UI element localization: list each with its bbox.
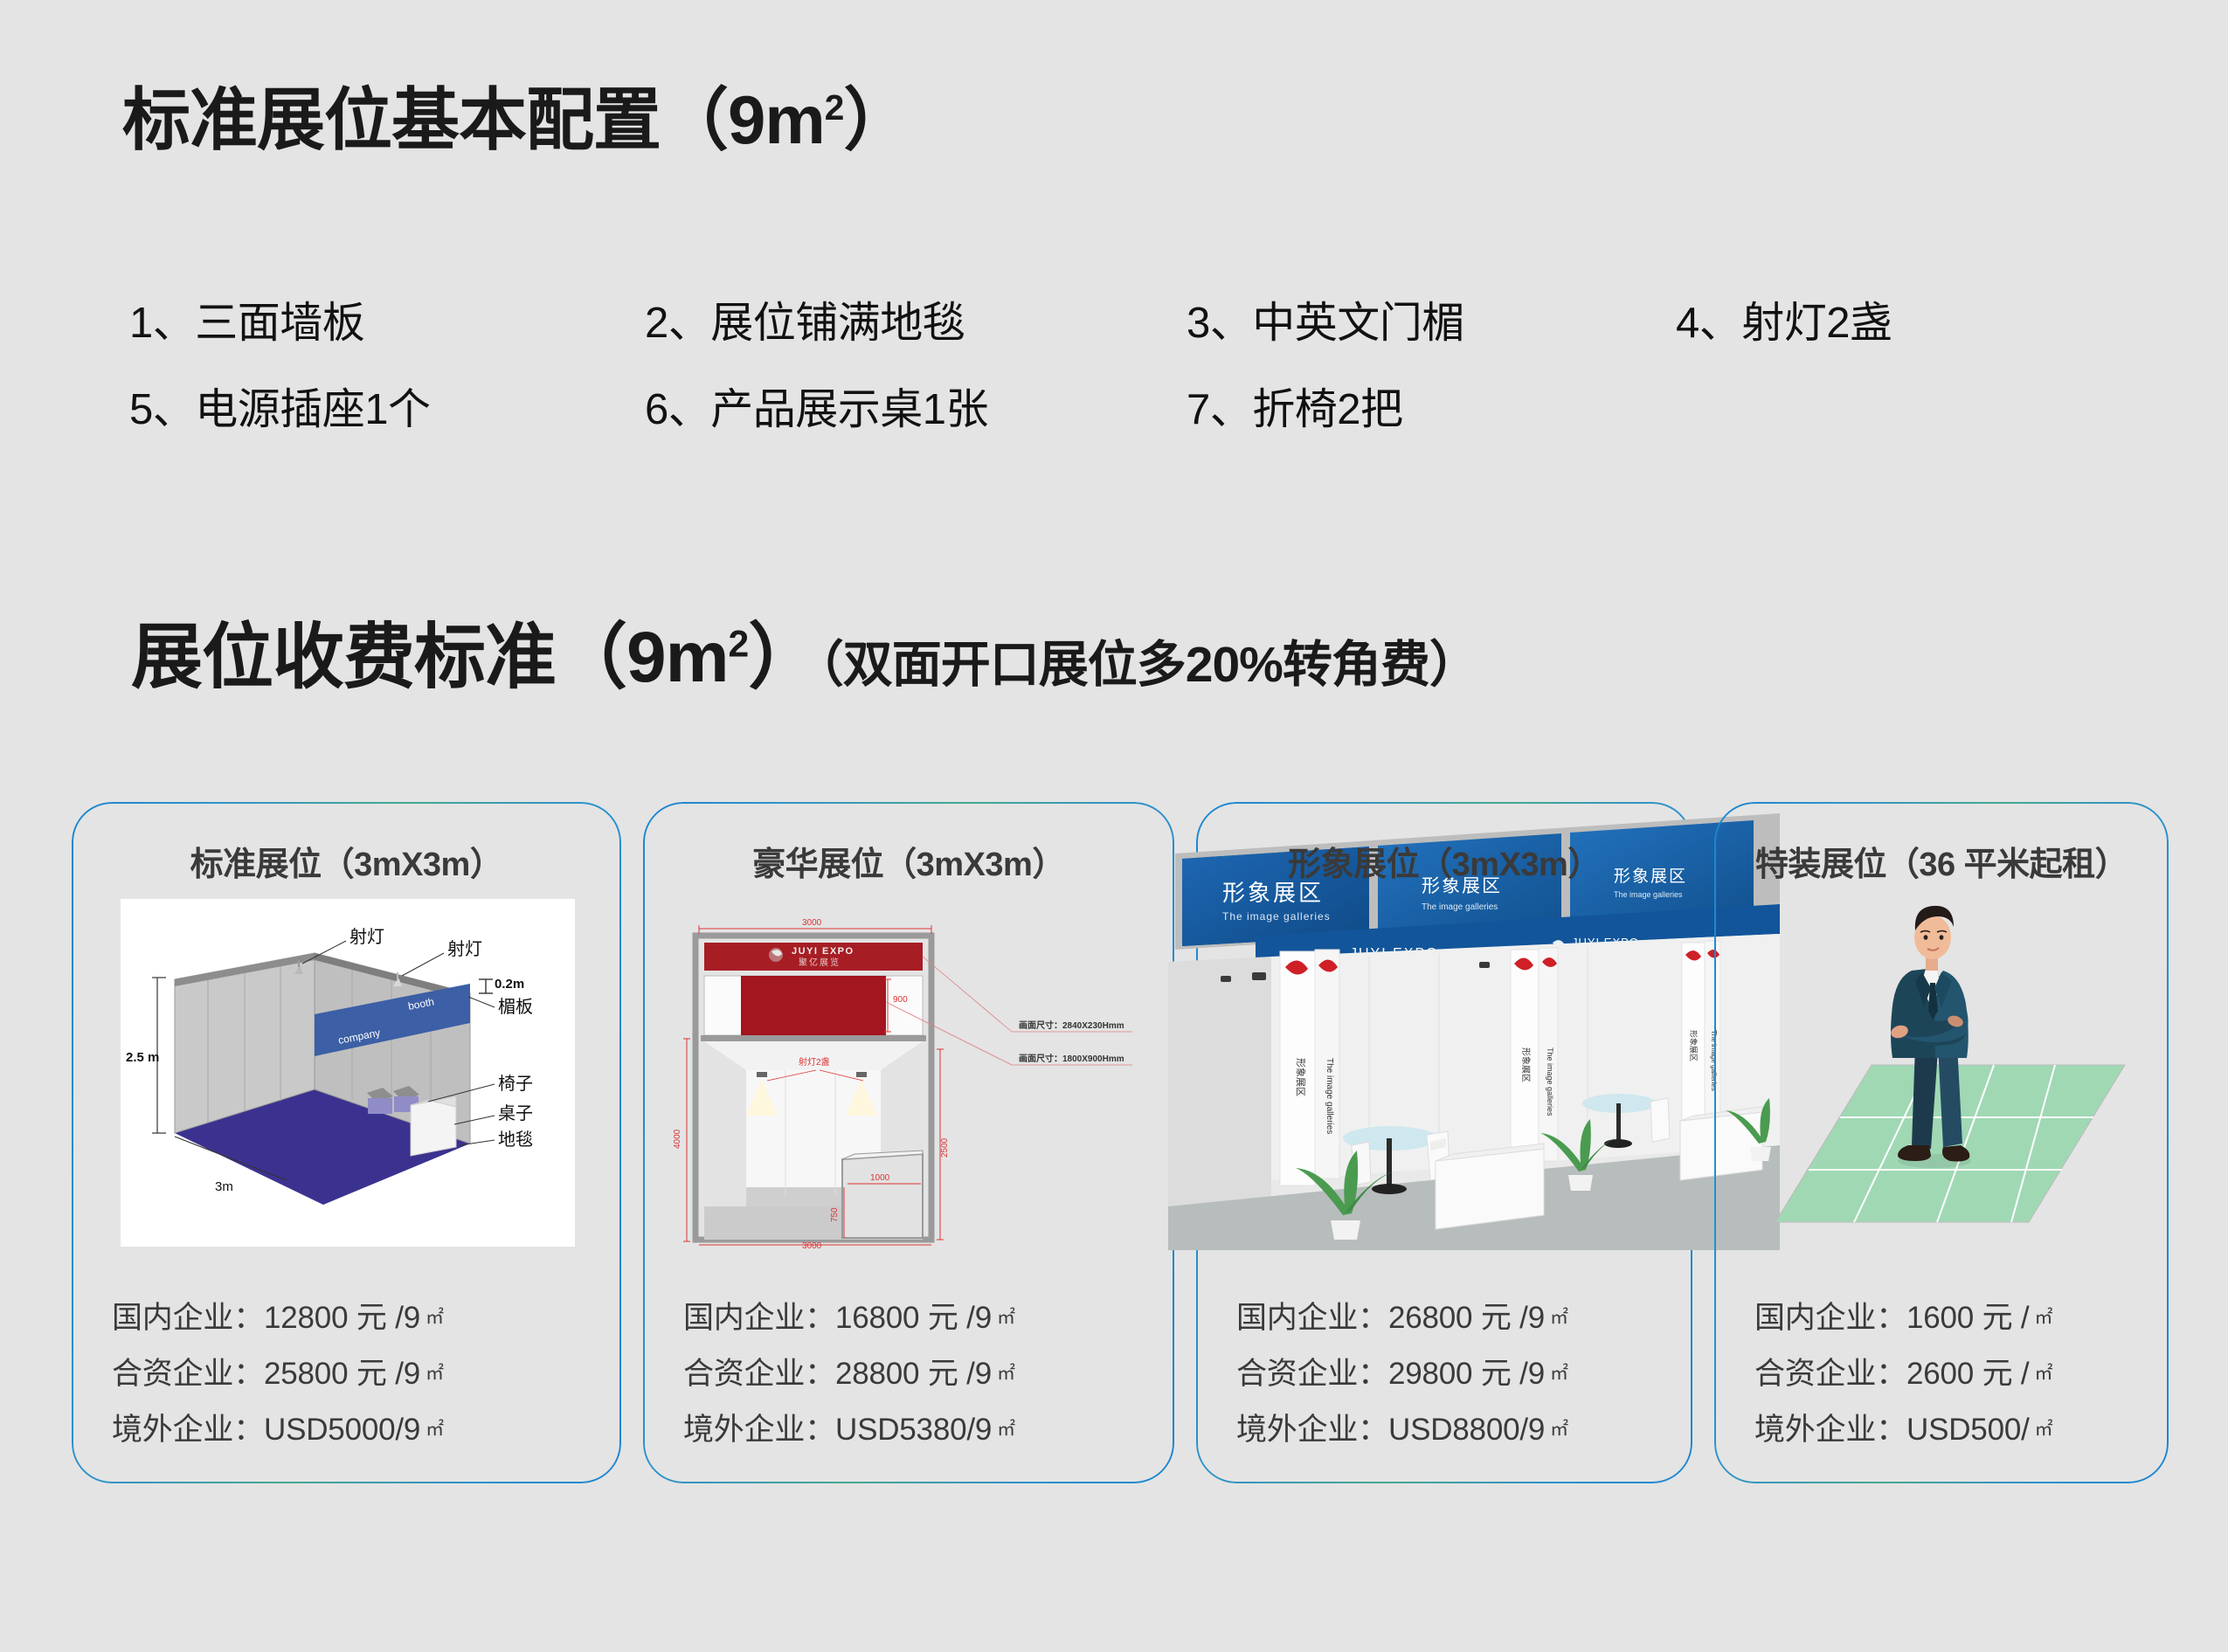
- feature-row-2: 5、电源插座1个 6、产品展示桌1张 7、折椅2把: [129, 375, 2095, 437]
- price-value-joint: 28800 元 /9: [835, 1357, 992, 1391]
- price-row-joint: 合资企业：25800 元 /9㎡: [112, 1349, 595, 1393]
- deluxe-label-spotlights: 射灯2盏: [799, 1056, 830, 1068]
- card-title-standard: 标准展位（3mX3m）: [98, 837, 595, 885]
- price-unit-domestic: ㎡: [426, 1308, 444, 1328]
- feature-item-3: 3、中英文门楣: [1187, 288, 1676, 350]
- price-row-joint: 合资企业：28800 元 /9㎡: [683, 1349, 1148, 1393]
- slide-root: 标准展位基本配置（9m2） 1、三面墙板 2、展位铺满地毯 3、中英文门楣 4、…: [0, 0, 2228, 1652]
- deluxe-dim-counter-height: 750: [830, 1207, 840, 1222]
- pillar-en-2: The image galleries: [1546, 1047, 1554, 1116]
- price-label-overseas: 境外企业：: [112, 1413, 264, 1447]
- price-label-domestic: 国内企业：: [112, 1301, 264, 1335]
- page-title-configuration: 标准展位基本配置（9m2）: [122, 66, 910, 163]
- price-label-overseas: 境外企业：: [1236, 1413, 1388, 1447]
- deluxe-dim-top-width: 3000: [802, 918, 822, 928]
- label-table: 桌子: [498, 1103, 533, 1123]
- price-label-domestic: 国内企业：: [1754, 1301, 1906, 1335]
- booth-card-custom[interactable]: 特装展位（36 平米起租）: [1714, 802, 2169, 1483]
- price-unit-joint: ㎡: [1550, 1364, 1568, 1384]
- price-label-joint: 合资企业：: [1754, 1357, 1906, 1391]
- price-block-deluxe: 国内企业：16800 元 /9㎡ 合资企业：28800 元 /9㎡ 境外企业：U…: [669, 1293, 1148, 1461]
- deluxe-note-1: 画面尺寸：2840X230Hmm: [1019, 1020, 1124, 1031]
- config-title-text: 标准展位基本配置（9m: [122, 81, 825, 158]
- feature-item-7: 7、折椅2把: [1187, 375, 1676, 437]
- card-media-custom: [1740, 899, 2142, 1248]
- price-value-domestic: 26800 元 /9: [1388, 1301, 1545, 1335]
- card-title-deluxe: 豪华展位（3mX3m）: [669, 837, 1148, 885]
- booth-card-standard[interactable]: 标准展位（3mX3m）: [72, 802, 621, 1483]
- price-value-overseas: USD500/: [1906, 1413, 2030, 1447]
- pillar-cn-1: 形象展区: [1295, 1058, 1306, 1096]
- card-media-standard: company booth: [98, 899, 595, 1248]
- price-row-domestic: 国内企业：12800 元 /9㎡: [112, 1293, 595, 1337]
- pricing-title-superscript: 2: [729, 624, 749, 666]
- config-title-superscript: 2: [825, 87, 844, 128]
- deluxe-note-2: 画面尺寸：1800X900Hmm: [1019, 1053, 1124, 1064]
- card-title-custom: 特装展位（36 平米起租）: [1740, 837, 2142, 885]
- label-width: 3m: [215, 1179, 233, 1194]
- feature-item-2: 2、展位铺满地毯: [645, 288, 1187, 350]
- config-title-close: ）: [843, 81, 910, 158]
- deluxe-dim-total-height: 4000: [673, 1129, 682, 1149]
- label-carpet: 地毯: [498, 1130, 533, 1150]
- price-unit-overseas: ㎡: [2035, 1420, 2053, 1440]
- pillar-cn-3: 形象展区: [1689, 1030, 1699, 1061]
- deluxe-dim-counter-width: 1000: [870, 1173, 890, 1183]
- label-fascia: 楣板: [498, 997, 533, 1017]
- feature-item-4: 4、射灯2盏: [1676, 288, 2025, 350]
- standard-booth-diagram: company booth: [121, 899, 575, 1247]
- deluxe-booth-elevation: JUYI EXPO 聚亿展览: [669, 899, 1148, 1248]
- price-unit-joint: ㎡: [997, 1364, 1015, 1384]
- price-unit-joint: ㎡: [2034, 1364, 2052, 1384]
- price-label-domestic: 国内企业：: [1236, 1301, 1388, 1335]
- price-unit-joint: ㎡: [426, 1364, 444, 1384]
- price-unit-domestic: ㎡: [997, 1308, 1015, 1328]
- price-unit-overseas: ㎡: [1550, 1420, 1568, 1440]
- booth-card-deluxe[interactable]: 豪华展位（3mX3m） JUYI EXPO 聚亿展览: [643, 802, 1174, 1483]
- pricing-title-text: 展位收费标准（9m: [131, 618, 729, 697]
- price-row-domestic: 国内企业：1600 元 /㎡: [1754, 1293, 2142, 1337]
- label-fascia-height: 0.2m: [495, 977, 524, 992]
- label-spotlight-left: 射灯: [349, 927, 384, 947]
- booth-card-image[interactable]: 形象展位（3mX3m）: [1196, 802, 1692, 1483]
- price-label-domestic: 国内企业：: [683, 1301, 835, 1335]
- banner-en-1: The image galleries: [1222, 910, 1331, 923]
- price-value-domestic: 1600 元 /: [1906, 1301, 2029, 1335]
- price-unit-overseas: ㎡: [997, 1420, 1015, 1440]
- price-value-joint: 2600 元 /: [1906, 1357, 2029, 1391]
- feature-item-6: 6、产品展示桌1张: [645, 375, 1187, 437]
- pricing-title-close: ）: [748, 618, 819, 697]
- price-value-overseas: USD8800/9: [1388, 1413, 1545, 1447]
- page-title-pricing: 展位收费标准（9m2）（双面开口展位多20%转角费）: [131, 598, 1478, 702]
- pillar-cn-2: 形象展区: [1520, 1047, 1531, 1082]
- price-label-overseas: 境外企业：: [683, 1413, 835, 1447]
- price-row-domestic: 国内企业：26800 元 /9㎡: [1236, 1293, 1666, 1337]
- pillar-en-1: The image galleries: [1325, 1058, 1334, 1134]
- price-block-image: 国内企业：26800 元 /9㎡ 合资企业：29800 元 /9㎡ 境外企业：U…: [1222, 1293, 1666, 1461]
- price-row-joint: 合资企业：29800 元 /9㎡: [1236, 1349, 1666, 1393]
- price-row-overseas: 境外企业：USD500/㎡: [1754, 1405, 2142, 1449]
- feature-item-5: 5、电源插座1个: [129, 375, 645, 437]
- price-block-standard: 国内企业：12800 元 /9㎡ 合资企业：25800 元 /9㎡ 境外企业：U…: [98, 1293, 595, 1461]
- price-unit-domestic: ㎡: [1550, 1308, 1568, 1328]
- label-chair: 椅子: [498, 1074, 533, 1094]
- price-unit-domestic: ㎡: [2034, 1308, 2052, 1328]
- configuration-feature-list: 1、三面墙板 2、展位铺满地毯 3、中英文门楣 4、射灯2盏 5、电源插座1个 …: [129, 288, 2095, 461]
- price-row-overseas: 境外企业：USD8800/9㎡: [1236, 1405, 1666, 1449]
- deluxe-brand-en: JUYI EXPO: [792, 946, 855, 957]
- deluxe-dim-banner-height: 900: [893, 995, 908, 1005]
- price-value-domestic: 16800 元 /9: [835, 1301, 992, 1335]
- deluxe-dim-inner-height: 2500: [940, 1137, 950, 1158]
- price-value-domestic: 12800 元 /9: [264, 1301, 420, 1335]
- price-value-joint: 25800 元 /9: [264, 1357, 420, 1391]
- custom-booth-illustration: [1740, 899, 2142, 1248]
- feature-item-1: 1、三面墙板: [129, 288, 645, 350]
- price-label-overseas: 境外企业：: [1754, 1413, 1906, 1447]
- price-value-joint: 29800 元 /9: [1388, 1357, 1545, 1391]
- price-row-overseas: 境外企业：USD5380/9㎡: [683, 1405, 1148, 1449]
- price-row-domestic: 国内企业：16800 元 /9㎡: [683, 1293, 1148, 1337]
- price-label-joint: 合资企业：: [112, 1357, 264, 1391]
- price-unit-overseas: ㎡: [426, 1420, 444, 1440]
- deluxe-dim-bottom-width: 3000: [802, 1241, 822, 1248]
- card-media-image: 形象展区 The image galleries 形象展区 The image …: [1222, 899, 1666, 1248]
- card-title-image: 形象展位（3mX3m）: [1222, 837, 1666, 885]
- price-value-overseas: USD5000/9: [264, 1413, 420, 1447]
- pricing-title-note: （双面开口展位多20%转角费）: [819, 637, 1478, 693]
- price-label-joint: 合资企业：: [1236, 1357, 1388, 1391]
- card-media-deluxe: JUYI EXPO 聚亿展览: [669, 899, 1148, 1248]
- label-wall-height: 2.5 m: [126, 1050, 159, 1065]
- price-label-joint: 合资企业：: [683, 1357, 835, 1391]
- price-block-custom: 国内企业：1600 元 /㎡ 合资企业：2600 元 /㎡ 境外企业：USD50…: [1740, 1293, 2142, 1461]
- price-value-overseas: USD5380/9: [835, 1413, 992, 1447]
- deluxe-brand-cn: 聚亿展览: [799, 957, 841, 968]
- banner-en-3: The image galleries: [1614, 890, 1683, 899]
- banner-en-2: The image galleries: [1422, 902, 1498, 912]
- price-row-overseas: 境外企业：USD5000/9㎡: [112, 1405, 595, 1449]
- booth-type-card-list: 标准展位（3mX3m）: [72, 802, 2169, 1483]
- label-spotlight-right: 射灯: [447, 939, 482, 959]
- price-row-joint: 合资企业：2600 元 /㎡: [1754, 1349, 2142, 1393]
- feature-row-1: 1、三面墙板 2、展位铺满地毯 3、中英文门楣 4、射灯2盏: [129, 288, 2095, 350]
